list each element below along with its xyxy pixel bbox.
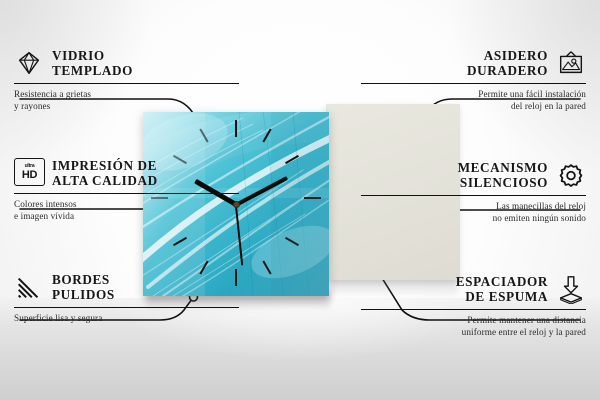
feature-title: ASIDERO DURADERO [467,48,548,79]
feature-espaciador-de-espuma: ESPACIADOR DE ESPUMA Permite mantener un… [361,274,586,338]
feature-title: MECANISMO SILENCIOSO [458,160,548,191]
feature-divider [14,193,239,194]
feature-description: Permite una fácil instalación del reloj … [361,88,586,112]
ultra-hd-icon: ultra HD [14,158,44,188]
feature-bordes-pulidos: BORDES PULIDOS Superficie lisa y segura [14,272,239,324]
feature-description: Las manecillas del reloj no emiten ningú… [361,200,586,224]
gear-icon [556,160,586,190]
feature-divider [361,195,586,196]
feature-divider [361,309,586,310]
feature-title: ESPACIADOR DE ESPUMA [456,274,548,305]
clock-tick [235,120,237,137]
polished-edges-icon [14,272,44,302]
feature-mecanismo-silencioso: MECANISMO SILENCIOSO Las manecillas del … [361,160,586,224]
feature-description: Colores intensos e imagen vívida [14,198,239,222]
feature-description: Superficie lisa y segura [14,312,239,324]
feature-title: BORDES PULIDOS [52,272,115,303]
diamond-icon [14,48,44,78]
feature-title: VIDRIO TEMPLADO [52,48,133,79]
feature-divider [361,83,586,84]
feature-asidero-duradero: ASIDERO DURADERO Permite una fácil insta… [361,48,586,112]
clock-tick [304,197,321,199]
feature-impresion-alta-calidad: ultra HD IMPRESIÓN DE ALTA CALIDAD Color… [14,158,239,222]
feature-vidrio-templado: VIDRIO TEMPLADO Resistencia a grietas y … [14,48,239,112]
feature-divider [14,307,239,308]
hanging-frame-icon [556,48,586,78]
feature-divider [14,83,239,84]
product-infographic: VIDRIO TEMPLADO Resistencia a grietas y … [0,0,600,400]
feature-title: IMPRESIÓN DE ALTA CALIDAD [52,158,158,189]
foam-spacer-icon [556,274,586,304]
feature-description: Resistencia a grietas y rayones [14,88,239,112]
feature-description: Permite mantener una distancia uniforme … [361,314,586,338]
